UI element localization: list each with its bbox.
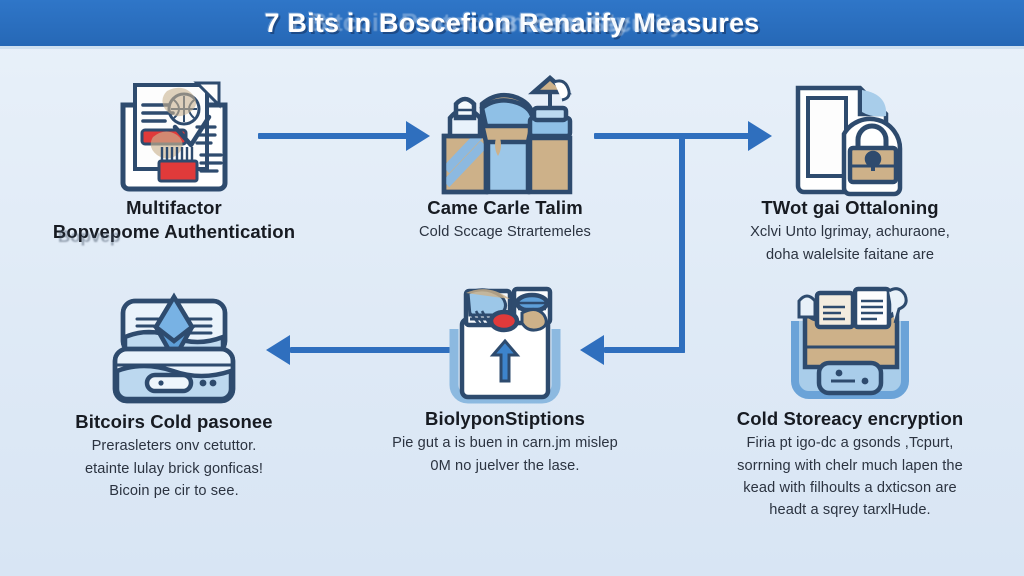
connector-line-vertical (679, 133, 685, 353)
card5-heading: BiolyponStiptions (355, 407, 655, 431)
card6-body-line-4: headt a sqrey tarxlHude. (700, 500, 1000, 520)
briefcase-documents-icon (700, 285, 1000, 407)
infographic-canvas: 7 Bitcoin Protection Security Bitcoin Se… (0, 0, 1024, 576)
header-bar: 7 Bitcoin Protection Security Bitcoin Se… (0, 0, 1024, 49)
card6-body-line-3: kead with filhoults a dxticson are (700, 478, 1000, 498)
card6-body-line-1: Firia pt igo-dc a gsonds ,Tcpurt, (700, 433, 1000, 453)
card-cold-storage-encryption[interactable]: Cold Storeacy encryption Firia pt igo-dc… (700, 285, 1000, 520)
vault-containers-icon (355, 74, 655, 196)
card2-body-line-1: Cold Sccage Strartemeles (355, 222, 655, 242)
card2-heading: Came Carle Talim (355, 196, 655, 220)
card5-body-line-1: Pie gut a is buen in carn.jm mislep (355, 433, 655, 453)
card-cold-storage-strategies[interactable]: Came Carle Talim Cold Sccage Strartemele… (355, 74, 655, 243)
card4-body-line-2: etainte lulay brick gonficas! (24, 459, 324, 479)
hardware-wallet-diamond-icon (24, 288, 324, 410)
card-two-factor-options[interactable]: TWot gai Ottaloning Xclvi Unto lgrimay, … (700, 74, 1000, 265)
document-padlock-icon (700, 74, 1000, 196)
title-wrap: 7 Bitcoin Protection Security Bitcoin Se… (264, 0, 759, 46)
card6-heading: Cold Storeacy encryption (700, 407, 1000, 431)
padlock-documents-icon (355, 285, 655, 407)
card1-ghost-text: Bopvep (58, 227, 120, 247)
card5-body-line-2: 0M no juelver the lase. (355, 456, 655, 476)
card4-body-line-1: Prerasleters onv cetuttor. (24, 436, 324, 456)
card6-body-line-2: sorrning with chelr much lapen the (700, 456, 1000, 476)
card1-heading: Multifactor (24, 196, 324, 220)
document-list-icon (24, 74, 324, 196)
card3-heading: TWot gai Ottaloning (700, 196, 1000, 220)
card4-heading: Bitcoirs Cold pasonee (24, 410, 324, 434)
card-backup-encryption[interactable]: BiolyponStiptions Pie gut a is buen in c… (355, 285, 655, 476)
card3-body-line-1: Xclvi Unto lgrimay, achuraone, (700, 222, 1000, 242)
card4-body-line-3: Bicoin pe cir to see. (24, 481, 324, 501)
card-multifactor-authentication[interactable]: Bopvep Multifactor Bopvepome Authenticat… (24, 74, 324, 245)
card-bitcoin-cold-passcode[interactable]: Bitcoirs Cold pasonee Prerasleters onv c… (24, 288, 324, 501)
title-ghost-overlay-secondary: Bitcoin Security (500, 11, 683, 39)
card3-body-line-2: doha walelsite faitane are (700, 245, 1000, 265)
